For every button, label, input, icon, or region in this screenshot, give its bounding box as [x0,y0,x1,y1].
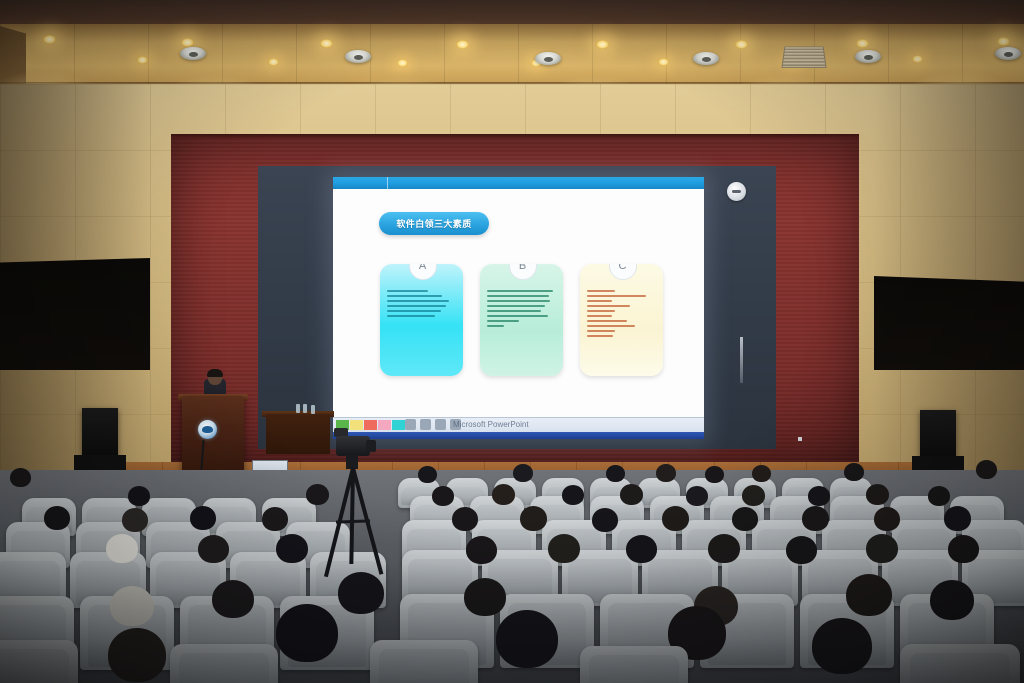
taskbar-strip [333,432,704,439]
audience-head [452,507,478,531]
audience-head [128,486,150,506]
ceiling-spotlight [320,39,333,48]
seat[interactable] [0,640,78,683]
audience-head [338,572,384,614]
slide-card-group: A B C [380,252,670,377]
audience-head [802,506,829,531]
podium [182,396,244,474]
slide-card-body-lines [387,290,456,317]
slide-title-pill: 软件白领三大素质 [379,212,489,235]
seat[interactable] [580,646,688,683]
window-icon[interactable] [405,419,416,430]
slide-card-body-lines [487,290,556,327]
audience-head [928,486,950,506]
acoustic-panel-left [0,258,150,370]
ceiling-spotlight [856,39,869,48]
ceiling-spotlight [43,35,56,44]
camera-lens-icon [366,440,376,452]
audience-head [844,463,864,481]
wall-light-strip [740,337,743,383]
presenter-hair [207,369,223,377]
audience-head [464,578,506,616]
ceiling-spotlight [397,59,408,67]
audience-head [190,506,216,530]
projection-screen[interactable]: 软件白领三大素质 A B C [333,177,704,439]
seat[interactable] [170,644,278,683]
ceiling-dome-light [180,47,206,60]
university-crest-icon [198,420,217,439]
audience-head [620,484,643,505]
app-icon[interactable] [435,419,446,430]
ceiling-spotlight [456,40,469,49]
seat[interactable] [370,640,478,683]
slide-card-badge: C [609,264,637,280]
document-icon[interactable] [420,419,431,430]
wall-clock-disc-icon [727,182,746,201]
slide-card-b: B [480,264,563,376]
audience-head [846,574,892,616]
audience-head [662,506,689,531]
ceiling-air-vent [781,47,826,68]
audience-head [656,464,676,482]
audience-head [492,484,515,505]
water-bottle [311,405,315,414]
audience-head [276,534,308,563]
wall-marker [798,437,802,441]
audience-head [976,460,997,479]
ceiling-dome-light [855,50,881,63]
slide-card-badge: A [409,264,437,280]
ceiling-spotlight [912,55,923,63]
audience-head [874,507,900,531]
audience-head [513,464,533,482]
loudspeaker-right [920,410,956,458]
audience-head-foreground [812,618,872,674]
audience-head [592,508,618,532]
desktop-taskbar[interactable]: Microsoft PowerPoint [333,417,704,439]
water-bottle [296,404,300,413]
ceiling-spotlight [658,58,669,66]
audience-head [548,534,580,563]
audience-head [606,465,625,482]
audience-head [212,580,254,618]
audience-head [705,466,724,483]
audience-head [106,534,138,563]
ceiling-spotlight [735,40,748,49]
audience-head [732,507,758,531]
audience-head-foreground [496,610,558,668]
audience-head [708,534,740,563]
audience-head-foreground [108,628,166,682]
ceiling-dome-light [535,52,561,65]
stage-table [266,414,330,454]
audience-head [626,535,657,563]
ceiling-dome-light [995,47,1021,60]
taskbar-window-title: Microsoft PowerPoint [453,420,529,429]
audience-head [944,506,971,531]
slide-top-bar-notch [387,177,388,189]
acoustic-panel-right [874,276,1024,370]
audience-head [866,484,889,505]
audience-head [198,535,229,563]
audience-head [948,535,979,563]
water-bottle [303,404,307,413]
seat[interactable] [900,644,1020,683]
audience-head [930,580,974,620]
slide-title-text: 软件白领三大素质 [396,217,471,230]
audience-head [742,485,765,506]
ceiling-dome-light [345,50,371,63]
audience-head [808,486,830,506]
slide-card-badge: B [509,264,537,280]
audience-head [110,586,154,626]
audience-head [306,484,329,505]
slide-card-c: C [580,264,663,376]
audience-head [786,536,817,564]
audience-head [466,536,497,564]
auditorium-scene: 软件白领三大素质 A B C [0,0,1024,683]
camera-body [336,436,370,456]
audience-head [432,486,454,506]
audience-head [122,508,148,532]
slide-card-body-lines [587,290,656,337]
slide-card-a: A [380,264,463,376]
ceiling-spotlight [997,37,1010,46]
audience-head [44,506,70,530]
audience-head [10,468,31,487]
audience-head [520,506,547,531]
audience-head-foreground [276,604,338,662]
audience-head [562,485,584,505]
audience-head [418,466,437,483]
ceiling-dome-light [693,52,719,65]
ceiling-spotlight [596,40,609,49]
audience-head [686,486,708,506]
ceiling-spotlight [268,58,279,66]
audience-head [752,465,771,482]
ceiling-spotlight [137,56,148,64]
audience-head [262,507,288,531]
loudspeaker-left [82,408,118,458]
slide-top-bar [333,177,704,189]
ceiling-spotlight [181,38,194,47]
audience-head [866,534,898,563]
